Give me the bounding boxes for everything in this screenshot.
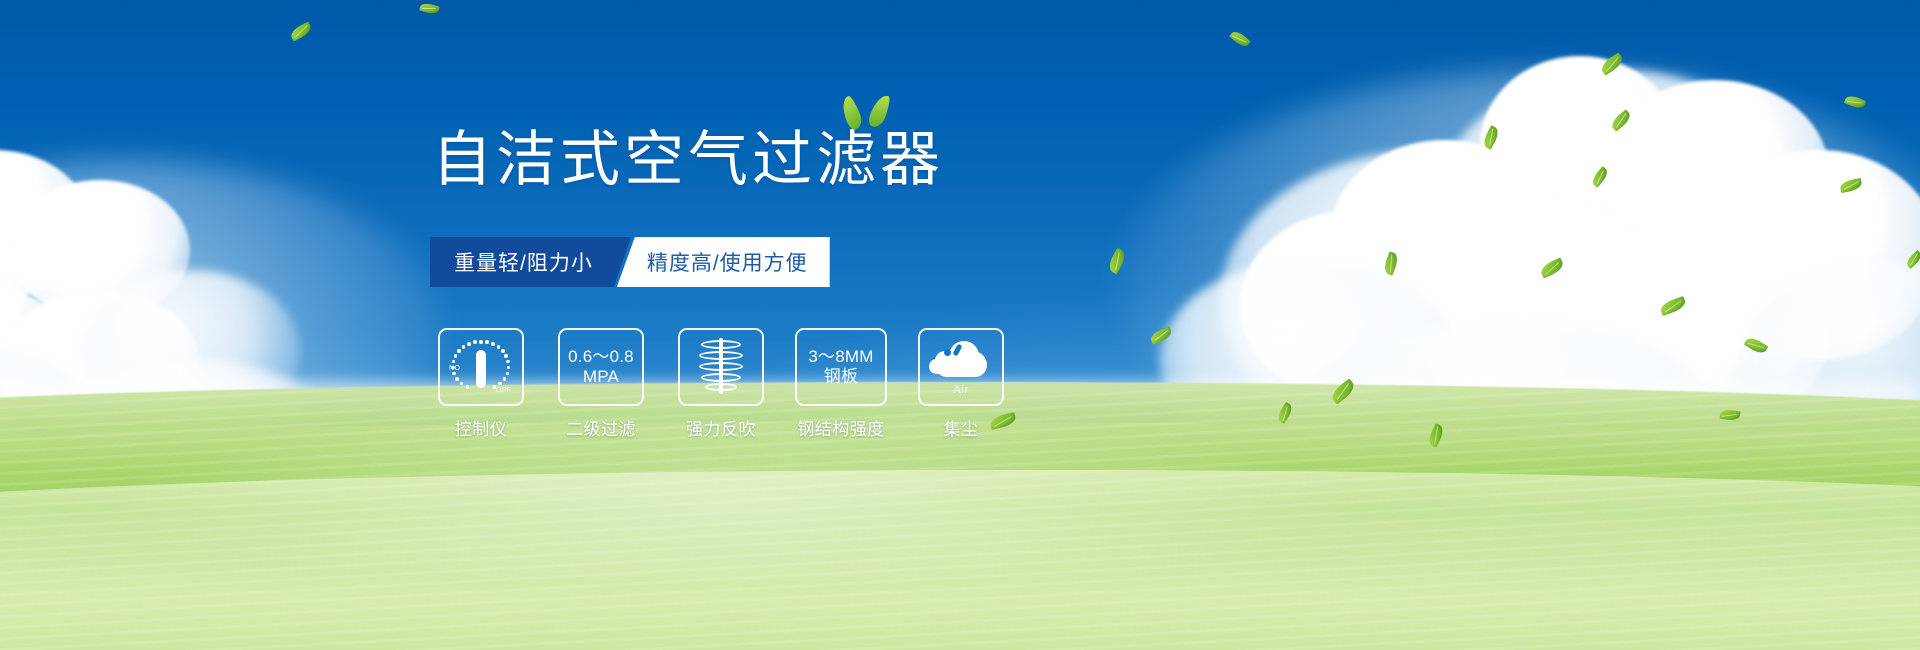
- feature-box: Air: [918, 328, 1004, 406]
- dial-off-label: OFF: [496, 387, 511, 395]
- subtitle-tab-secondary[interactable]: 精度高/使用方便: [617, 237, 830, 287]
- pressure-range-text: 0.6～0.8: [568, 347, 634, 367]
- feature-label: 集尘: [944, 415, 979, 440]
- feature-label: 二级过滤: [566, 415, 636, 440]
- dial-needle: [476, 350, 486, 388]
- leaf-right-icon: [867, 92, 893, 129]
- feature-box: [678, 328, 764, 406]
- leaf-left-icon: [838, 94, 865, 131]
- steel-thickness-text: 3～8MM: [808, 347, 873, 367]
- subtitle-tab-primary[interactable]: 重量轻/阻力小: [430, 237, 631, 287]
- feature-item-backblow[interactable]: 强力反吹: [678, 328, 764, 440]
- feature-item-steel[interactable]: 3～8MM 钢板 钢结构强度: [798, 328, 884, 440]
- feature-icon-row: NO OFF 控制仪 0.6～0.8 MPA 二级过滤: [438, 328, 1004, 440]
- feature-box: 0.6～0.8 MPA: [558, 328, 644, 406]
- banner-title-block: 自洁式空气过滤器: [432, 130, 944, 190]
- feature-item-dust[interactable]: Air 集尘: [918, 328, 1004, 440]
- filter-coil-icon: [695, 338, 747, 396]
- air-label: Air: [929, 384, 993, 397]
- feature-box: NO OFF: [438, 328, 524, 406]
- page-title: 自洁式空气过滤器: [432, 130, 944, 190]
- feature-box: 3～8MM 钢板: [795, 328, 887, 406]
- air-cloud-icon: Air: [929, 339, 993, 395]
- subtitle-tab-bar: 重量轻/阻力小 精度高/使用方便: [430, 237, 830, 287]
- steel-plate-text: 钢板: [824, 367, 858, 387]
- pressure-unit-text: MPA: [583, 367, 619, 387]
- feature-label: 钢结构强度: [797, 415, 885, 440]
- feature-label: 强力反吹: [686, 415, 756, 440]
- title-leaf-decoration: [840, 92, 900, 134]
- feature-label: 控制仪: [455, 415, 508, 440]
- feature-item-controller[interactable]: NO OFF 控制仪: [438, 328, 524, 440]
- dial-gauge-icon: NO OFF: [450, 338, 512, 396]
- hero-banner: 自洁式空气过滤器 重量轻/阻力小 精度高/使用方便: [0, 0, 1920, 650]
- dial-on-label: NO: [449, 365, 460, 373]
- feature-item-pressure[interactable]: 0.6～0.8 MPA 二级过滤: [558, 328, 644, 440]
